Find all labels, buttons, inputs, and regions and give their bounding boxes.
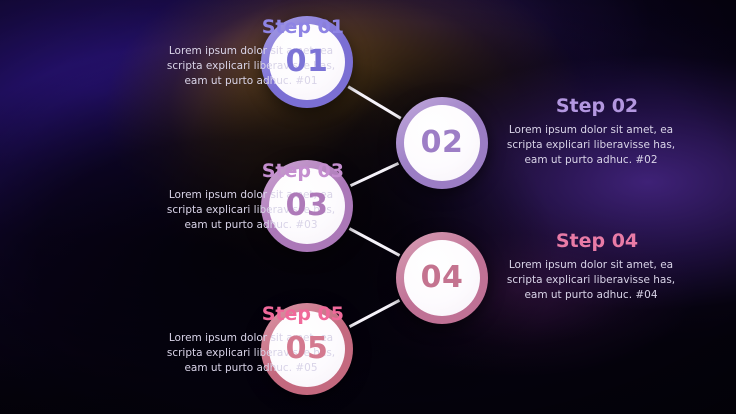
connector-line-02-to-03	[351, 163, 399, 185]
background-amber-blob	[0, 0, 736, 414]
step-number-01: 01	[286, 47, 329, 77]
background-magenta-glow	[0, 0, 736, 414]
step-title-04: Step 04	[495, 231, 699, 253]
connector-lines	[0, 0, 736, 414]
step-title-02: Step 02	[495, 96, 699, 118]
background-black-core	[0, 0, 736, 414]
background-bottom-curve	[0, 0, 736, 414]
step-title-03: Step 03	[140, 161, 344, 183]
step-number-02: 02	[421, 128, 464, 158]
step-title-05: Step 05	[140, 304, 344, 326]
step-number-05: 05	[286, 334, 329, 364]
connector-line-01-to-02	[348, 87, 401, 119]
step-text-block-04: Step 04Lorem ipsum dolor sit amet, ea sc…	[495, 231, 699, 304]
step-number-03: 03	[286, 191, 329, 221]
step-body-04: Lorem ipsum dolor sit amet, ea scripta e…	[495, 258, 699, 304]
step-title-01: Step 01	[140, 17, 344, 39]
connector-line-03-to-04	[349, 229, 399, 256]
step-body-02: Lorem ipsum dolor sit amet, ea scripta e…	[495, 123, 699, 169]
step-text-block-02: Step 02Lorem ipsum dolor sit amet, ea sc…	[495, 96, 699, 169]
background-purple-right	[0, 0, 736, 414]
background-base	[0, 0, 736, 414]
connector-line-04-to-05	[350, 300, 400, 326]
background-dark-wedge	[0, 0, 736, 414]
step-number-04: 04	[421, 263, 464, 293]
step-circle-04[interactable]: 04	[396, 232, 488, 324]
background-purple-top	[0, 0, 736, 414]
step-circle-02[interactable]: 02	[396, 97, 488, 189]
background-amber-blob-2	[0, 0, 736, 414]
background-vignette	[0, 0, 736, 414]
background-indigo-glow	[0, 0, 736, 414]
infographic-canvas: 0102030405 Step 01Lorem ipsum dolor sit …	[0, 0, 736, 414]
